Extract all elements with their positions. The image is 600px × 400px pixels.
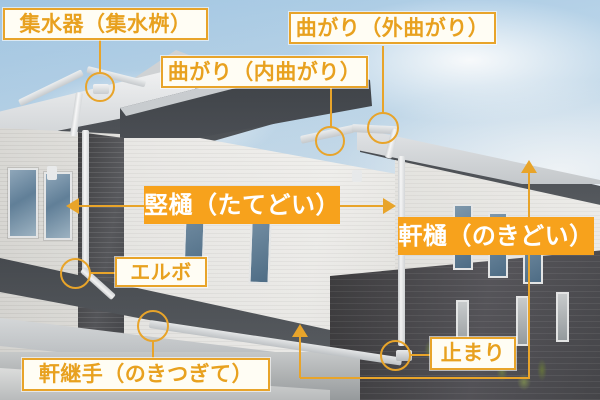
eaves-span-riser-right (528, 172, 530, 378)
callout-eaves-gutter-text: 軒樋（のきどい） (398, 224, 593, 248)
leader-collector (99, 40, 101, 74)
downspout-span-line-left (78, 205, 148, 207)
arrow-left-icon (66, 198, 79, 214)
annotated-house-photo: 集水器（集水桝） 曲がり（内曲がり） 曲がり（外曲がり） エルボ 軒継手（のきつ… (0, 0, 600, 400)
callout-elbow: エルボ (115, 257, 207, 287)
highlight-circle-elbow (60, 258, 91, 289)
downspout-span-line-right (340, 205, 386, 207)
highlight-circle-eaves-joint (137, 310, 169, 342)
callout-end-cap-text: 止まり (441, 343, 506, 364)
highlight-circle-end-cap (380, 340, 411, 371)
leader-outer-bend (382, 46, 384, 114)
callout-outer-bend-text: 曲がり（外曲がり） (296, 18, 490, 39)
arrow-right-icon (383, 198, 396, 214)
highlight-circle-collector (85, 72, 115, 102)
callout-downspout: 竪樋（たてどい） (144, 186, 340, 224)
eaves-span-riser-left (299, 336, 301, 378)
arrow-up-icon-right (521, 160, 537, 173)
callout-elbow-text: エルボ (130, 262, 192, 282)
callout-collector-text: 集水器（集水桝） (20, 14, 192, 35)
callout-eaves-joint-text: 軒継手（のきつぎて） (39, 364, 253, 385)
annotation-layer: 集水器（集水桝） 曲がり（内曲がり） 曲がり（外曲がり） エルボ 軒継手（のきつ… (0, 0, 600, 400)
callout-downspout-text: 竪樋（たてどい） (144, 193, 340, 217)
callout-outer-bend: 曲がり（外曲がり） (289, 12, 496, 44)
highlight-circle-inner-bend (315, 126, 345, 156)
leader-elbow (90, 272, 118, 274)
leader-end-cap (410, 354, 432, 356)
callout-collector: 集水器（集水桝） (3, 8, 208, 40)
callout-end-cap: 止まり (430, 337, 516, 370)
callout-inner-bend-text: 曲がり（内曲がり） (168, 62, 362, 83)
callout-inner-bend: 曲がり（内曲がり） (161, 56, 368, 88)
eaves-span-baseline (300, 377, 530, 379)
highlight-circle-outer-bend (367, 112, 399, 144)
arrow-up-icon-left (292, 324, 308, 337)
callout-eaves-gutter: 軒樋（のきどい） (398, 217, 594, 255)
callout-eaves-joint: 軒継手（のきつぎて） (22, 358, 270, 391)
